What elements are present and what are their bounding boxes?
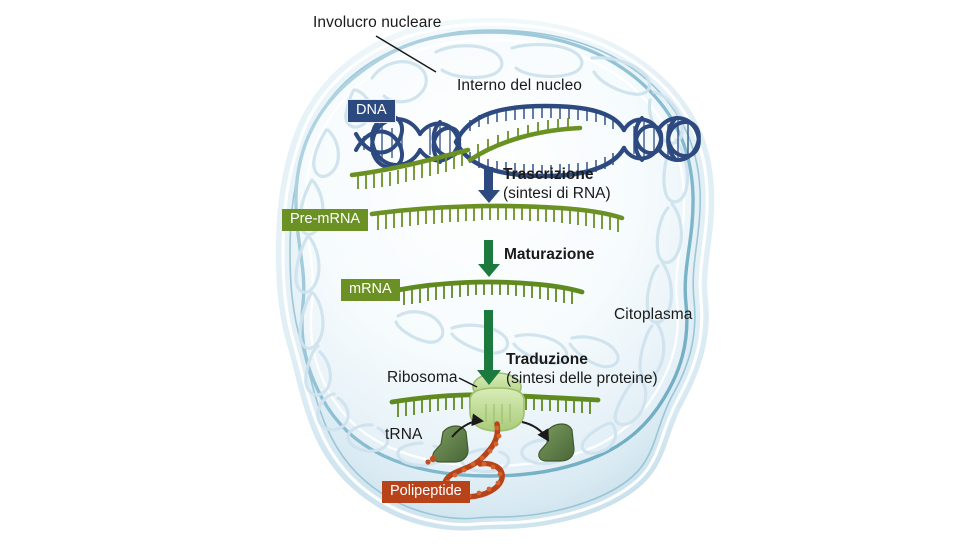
pre-mrna-tag: Pre-mRNA [282,209,368,231]
nuclear-envelope-label: Involucro nucleare [313,14,441,32]
transcription-subtitle: (sintesi di RNA) [503,185,611,203]
dna-tag: DNA [347,99,396,123]
polypeptide-tag: Polipeptide [382,481,470,503]
cytoplasm-label: Citoplasma [614,306,693,324]
ribosome-label: Ribosoma [387,369,458,387]
translation-subtitle: (sintesi delle proteine) [506,370,658,388]
nucleus-interior-label: Interno del nucleo [457,77,582,95]
diagram-canvas: Involucro nucleare Interno del nucleo DN… [0,0,980,551]
mrna-tag: mRNA [341,279,400,301]
trna-label: tRNA [385,426,422,444]
translation-title: Traduzione [506,351,588,369]
transcription-title: Trascrizione [503,166,593,184]
maturation-title: Maturazione [504,246,594,264]
